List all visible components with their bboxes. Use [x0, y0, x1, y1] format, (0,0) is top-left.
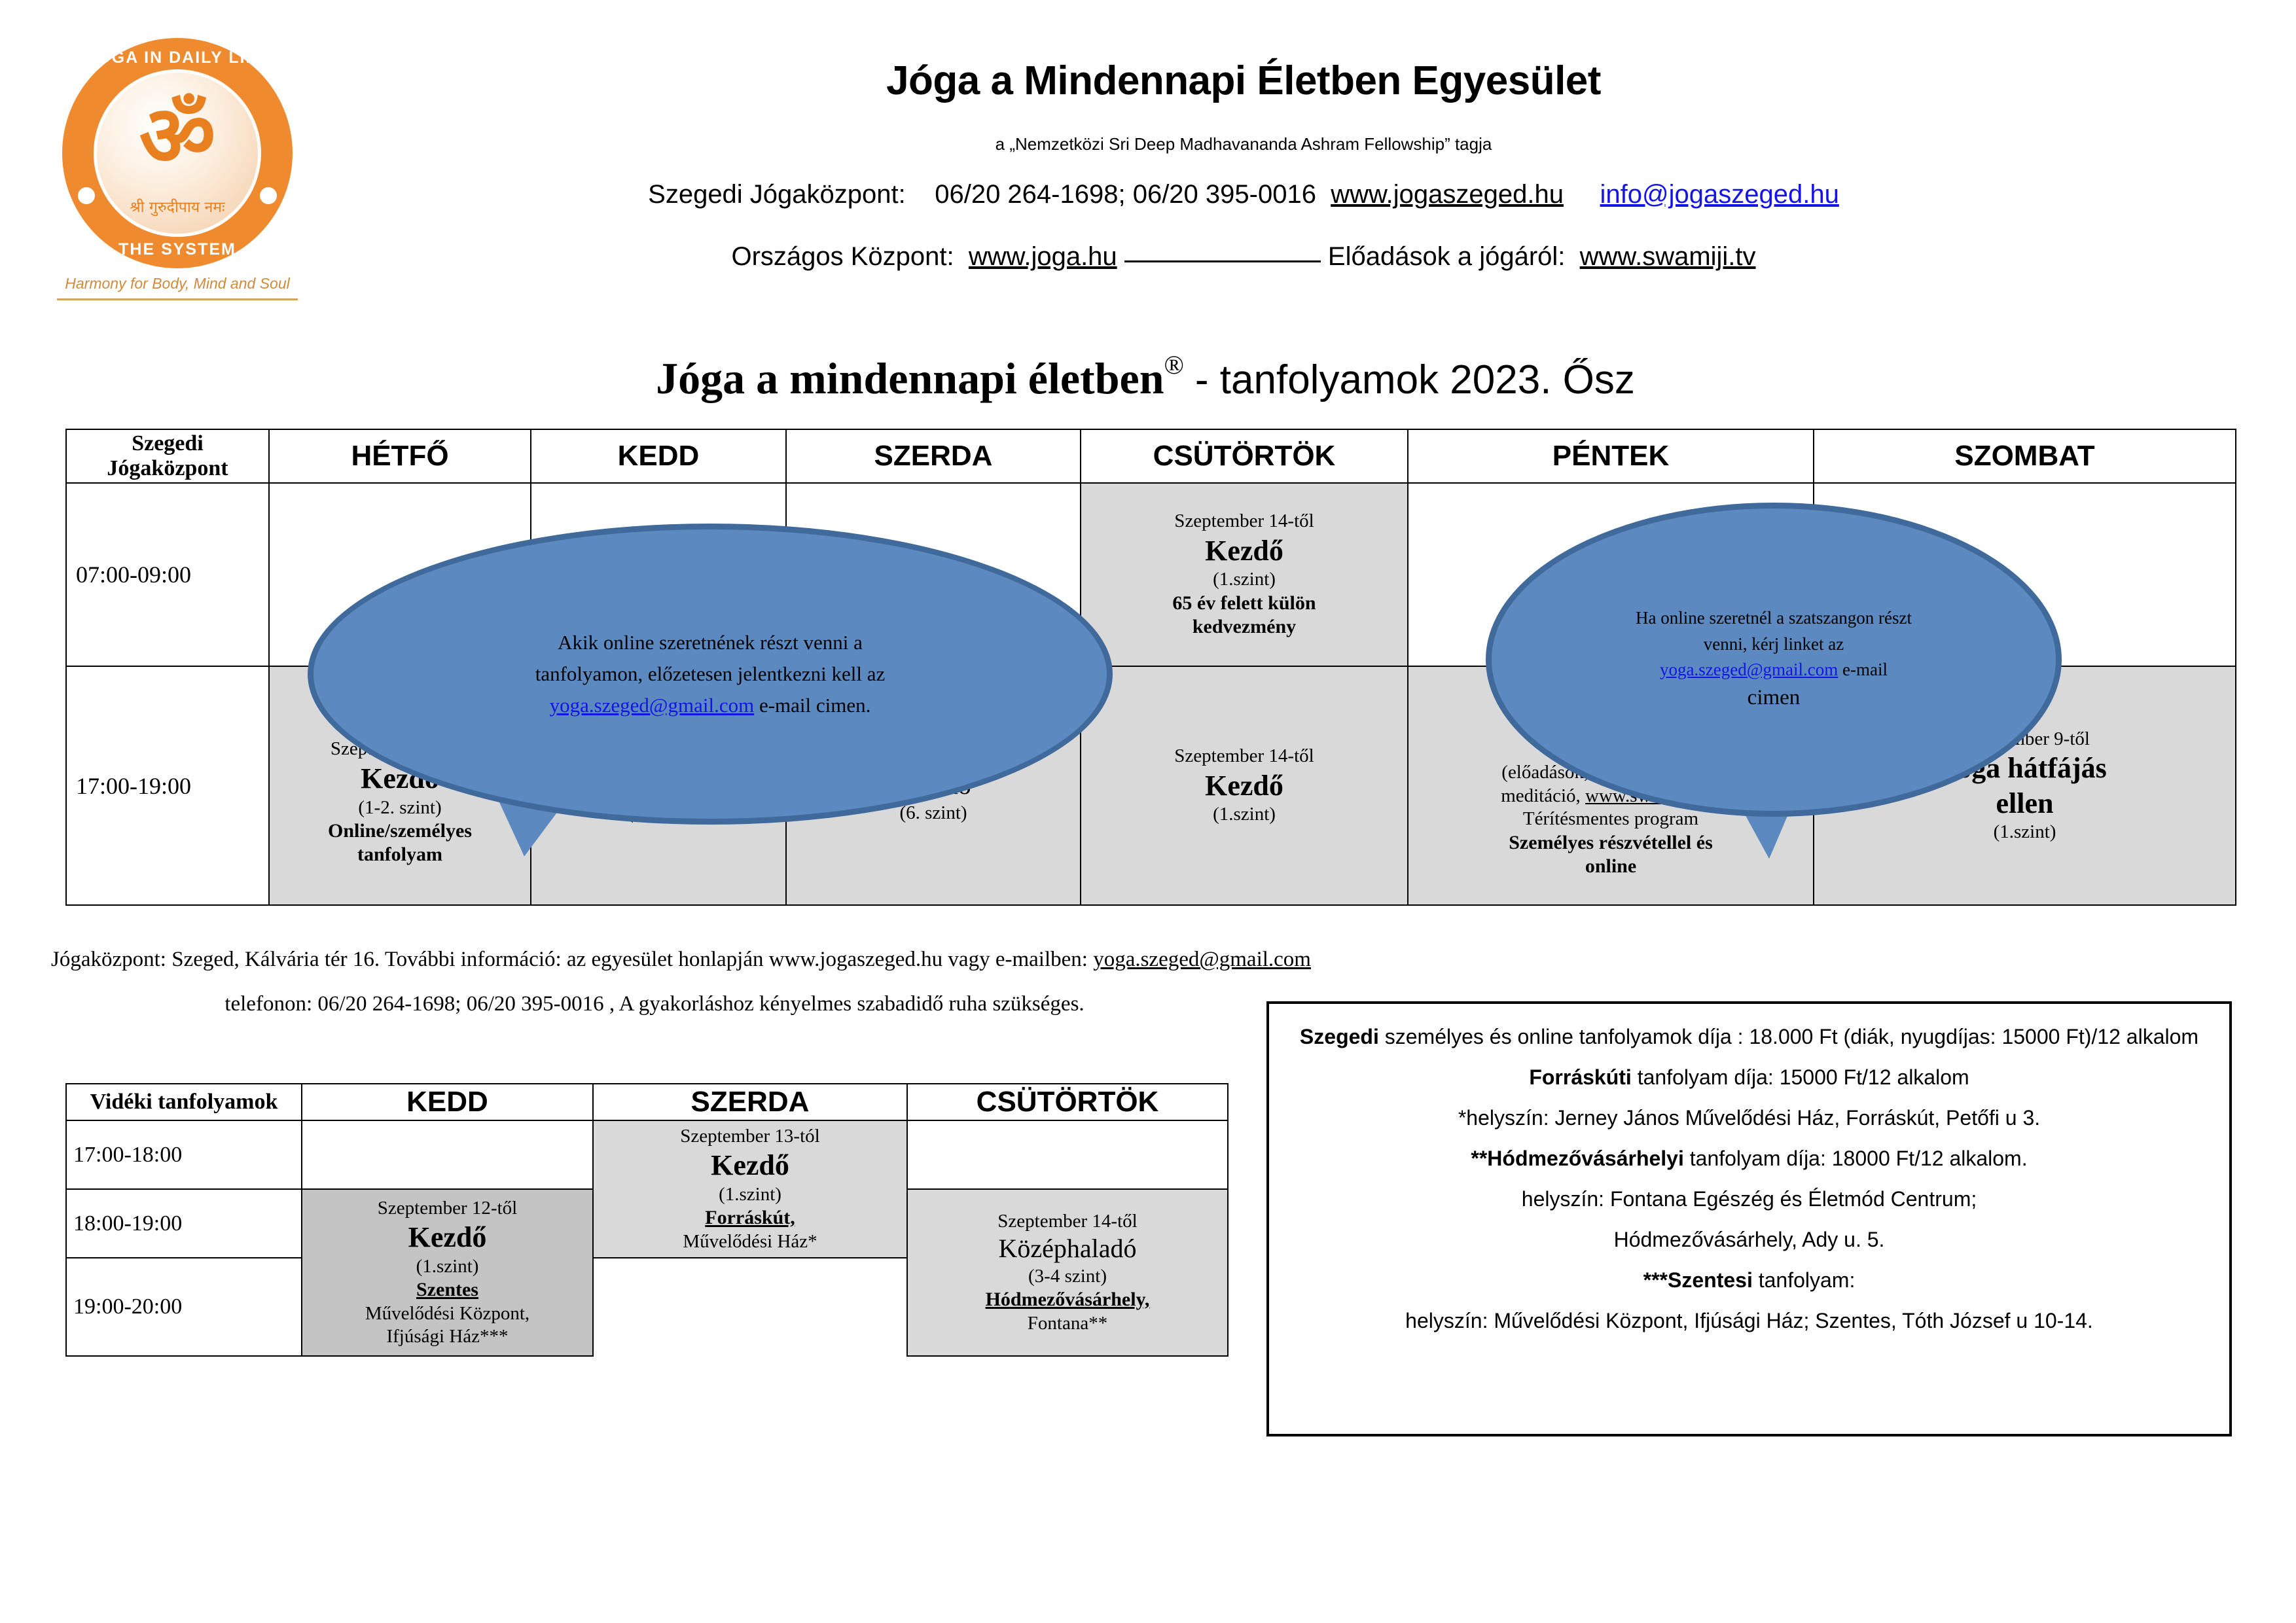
logo-dot-right [260, 187, 277, 204]
cell-line: online [1412, 855, 1809, 879]
schedule-title: Jóga a mindennapi életben® - tanfolyamok… [262, 352, 2029, 401]
cell-line: Szeptember 14-től [912, 1210, 1223, 1233]
rural-time-1800: 18:00-19:00 [66, 1189, 302, 1258]
organization-logo: YOGA IN DAILY LIFE THE SYSTEM ॐ श्री गुर… [49, 38, 304, 300]
szeged-website-link[interactable]: www.jogaszeged.hu [1331, 180, 1564, 209]
cell-line: Szeptember 13-tól [598, 1125, 903, 1148]
logo-underline-rule [57, 298, 298, 300]
pricing-info-box: Szegedi személyes és online tanfolyamok … [1266, 1001, 2232, 1436]
cell-content: Szeptember 13-tólKezdő(1.szint)Forráskút… [598, 1125, 903, 1253]
phone-clothing-note: telefonon: 06/20 264-1698; 06/20 395-001… [98, 990, 1211, 1019]
row-time-morning: 07:00-09:00 [66, 483, 269, 666]
column-header-friday: PÉNTEK [1408, 429, 1814, 483]
cell-line: Fontana** [912, 1312, 1223, 1335]
cell-content: Szeptember 14-tőlKezdő(1.szint) [1085, 745, 1403, 826]
logo-arc-bottom-text: THE SYSTEM [62, 240, 293, 259]
cell-line: (1.szint) [1085, 803, 1403, 826]
cell-line: Hódmezővásárhely, [912, 1288, 1223, 1312]
cell-line: Forráskút, [598, 1206, 903, 1230]
schedule-title-rest: - tanfolyamok 2023. Ősz [1195, 357, 1635, 402]
column-header-wednesday: SZERDA [786, 429, 1081, 483]
price-forraskut-bold: Forráskúti [1529, 1065, 1631, 1089]
online-registration-callout: Akik online szeretnének részt venni a ta… [308, 524, 1113, 825]
logo-tagline: Harmony for Body, Mind and Soul [49, 275, 306, 293]
address-note: Jógaközpont: Szeged, Kálvária tér 16. To… [51, 948, 1818, 972]
om-symbol-icon: ॐ [97, 95, 258, 179]
cell-line: Kezdő [1085, 533, 1403, 569]
rural-column-header-wednesday: SZERDA [593, 1084, 907, 1120]
callout1-line1: Akik online szeretnének részt venni a [535, 627, 886, 658]
cell-content: Szeptember 14-tőlKezdő(1.szint)65 év fel… [1085, 510, 1403, 639]
main-table-corner-header: Szegedi Jógaközpont [66, 429, 269, 483]
callout2-line2: venni, kérj linket az [1636, 632, 1912, 657]
cell-line: Művelődési Ház* [598, 1230, 903, 1253]
cell-line: Kezdő [306, 1220, 588, 1255]
cell-content: Szeptember 14-tőlKözéphaladó(3-4 szint)H… [912, 1210, 1223, 1336]
szeged-phones: 06/20 264-1698; 06/20 395-0016 [935, 180, 1316, 209]
contact-line-szeged: Szegedi Jógaközpont: 06/20 264-1698; 06/… [458, 180, 2029, 209]
rural-cell-wed: Szeptember 13-tólKezdő(1.szint)Forráskút… [593, 1120, 907, 1258]
rural-table-corner-header: Vidéki tanfolyamok [66, 1084, 302, 1120]
cell-line: Kezdő [598, 1148, 903, 1183]
price-szentes-bold: ***Szentesi [1643, 1268, 1753, 1292]
logo-globe: ॐ श्री गुरुदीपाय नमः [94, 69, 261, 237]
cell-line: kedvezmény [1085, 615, 1403, 639]
cell-thu-evening: Szeptember 14-tőlKezdő(1.szint) [1081, 666, 1408, 905]
rural-schedule-table: Vidéki tanfolyamok KEDD SZERDA CSÜTÖRTÖK… [65, 1083, 1229, 1357]
price-szeged-bold: Szegedi [1300, 1025, 1379, 1048]
price-line-szeged: Szegedi személyes és online tanfolyamok … [1289, 1026, 2210, 1047]
callout1-line3: yoga.szeged@gmail.com e-mail cimen. [535, 690, 886, 721]
price-hmv-rest: tanfolyam díja: 18000 Ft/12 alkalom. [1684, 1147, 2028, 1170]
callout2-email-link[interactable]: yoga.szeged@gmail.com [1660, 660, 1838, 679]
address-note-email-link[interactable]: yoga.szeged@gmail.com [1093, 948, 1311, 971]
registered-trademark-icon: ® [1164, 350, 1184, 380]
rural-cell-tue: Szeptember 12-tőlKezdő(1.szint)SzentesMű… [302, 1189, 593, 1356]
satsang-online-callout: Ha online szeretnél a szatszangon részt … [1486, 503, 2062, 817]
price-line-szentes: ***Szentesi tanfolyam: [1289, 1270, 2210, 1291]
venue-hmv-1: helyszín: Fontana Egészég és Életmód Cen… [1289, 1188, 2210, 1209]
national-website-link[interactable]: www.joga.hu [969, 242, 1117, 271]
flyer-page: YOGA IN DAILY LIFE THE SYSTEM ॐ श्री गुर… [0, 0, 2296, 1623]
rural-cell-tue-1700 [302, 1120, 593, 1189]
page-subtitle: a „Nemzetközi Sri Deep Madhavananda Ashr… [458, 134, 2029, 154]
szeged-center-label: Szegedi Jógaközpont: [648, 180, 906, 209]
cell-line: 65 év felett külön [1085, 592, 1403, 616]
cell-line: tanfolyam [274, 843, 526, 867]
cell-line: Ifjúsági Ház*** [306, 1325, 588, 1348]
logo-arc-top-text: YOGA IN DAILY LIFE [62, 48, 293, 67]
table-header-row: Vidéki tanfolyamok KEDD SZERDA CSÜTÖRTÖK [66, 1084, 1228, 1120]
cell-line: (1.szint) [598, 1183, 903, 1206]
price-hmv-bold: **Hódmezővásárhelyi [1471, 1147, 1683, 1170]
cell-thu-morning: Szeptember 14-tőlKezdő(1.szint)65 év fel… [1081, 483, 1408, 666]
price-line-forraskut: Forráskúti tanfolyam díja: 15000 Ft/12 a… [1289, 1067, 2210, 1088]
address-note-text: Jógaközpont: Szeged, Kálvária tér 16. To… [51, 948, 1093, 971]
callout2-line1: Ha online szeretnél a szatszangon részt [1636, 605, 1912, 631]
price-szentes-rest: tanfolyam: [1753, 1268, 1856, 1292]
rural-time-1900: 19:00-20:00 [66, 1258, 302, 1356]
venue-szentes: helyszín: Művelődési Központ, Ifjúsági H… [1289, 1310, 2210, 1331]
rural-column-header-tuesday: KEDD [302, 1084, 593, 1120]
rural-cell-thu-1700 [907, 1120, 1228, 1189]
callout1-line3-tail: e-mail cimen. [754, 694, 870, 717]
cell-line: Kezdő [1085, 768, 1403, 804]
lectures-label: Előadások a jógáról: [1328, 242, 1565, 271]
cell-line: Középhaladó [912, 1233, 1223, 1265]
szeged-email-link[interactable]: info@jogaszeged.hu [1600, 180, 1839, 209]
cell-line: Művelődési Központ, [306, 1302, 588, 1325]
contact-line-national: Országos Központ: www.joga.hu Előadások … [458, 242, 2029, 272]
row-time-evening: 17:00-19:00 [66, 666, 269, 905]
rural-cell-thu: Szeptember 14-tőlKözéphaladó(3-4 szint)H… [907, 1189, 1228, 1356]
schedule-title-brand: Jóga a mindennapi életben [656, 353, 1164, 403]
cell-line: Szeptember 14-től [1085, 510, 1403, 533]
venue-hmv-2: Hódmezővásárhely, Ady u. 5. [1289, 1229, 2210, 1250]
cell-line: Szentes [306, 1278, 588, 1302]
cell-line: (1.szint) [1085, 568, 1403, 591]
cell-content: Szeptember 12-tőlKezdő(1.szint)SzentesMű… [306, 1197, 588, 1349]
callout1-email-link[interactable]: yoga.szeged@gmail.com [550, 694, 755, 717]
logo-sanskrit-text: श्री गुरुदीपाय नमः [97, 196, 258, 217]
venue-forraskut: *helyszín: Jerney János Művelődési Ház, … [1289, 1107, 2210, 1128]
cell-line: Szeptember 14-től [1085, 745, 1403, 768]
price-szeged-rest: személyes és online tanfolyamok díja : 1… [1379, 1025, 2198, 1048]
rural-time-1700: 17:00-18:00 [66, 1120, 302, 1189]
table-row: 17:00-18:00 Szeptember 13-tólKezdő(1.szi… [66, 1120, 1228, 1189]
national-center-label: Országos Központ: [731, 242, 954, 271]
callout2-line3: yoga.szeged@gmail.com e-mail [1636, 657, 1912, 683]
logo-dot-left [78, 187, 95, 204]
column-header-tuesday: KEDD [531, 429, 786, 483]
logo-disc: YOGA IN DAILY LIFE THE SYSTEM ॐ श्री गुर… [62, 38, 293, 268]
column-header-thursday: CSÜTÖRTÖK [1081, 429, 1408, 483]
callout2-line3-tail: e-mail [1838, 660, 1888, 679]
rural-column-header-thursday: CSÜTÖRTÖK [907, 1084, 1228, 1120]
cell-line: (1.szint) [1818, 821, 2231, 844]
table-header-row: Szegedi Jógaközpont HÉTFŐ KEDD SZERDA CS… [66, 429, 2236, 483]
cell-line: (3-4 szint) [912, 1265, 1223, 1288]
price-line-hodmezovasarhely: **Hódmezővásárhelyi tanfolyam díja: 1800… [1289, 1148, 2210, 1169]
cell-line: (1.szint) [306, 1255, 588, 1278]
column-header-saturday: SZOMBAT [1814, 429, 2236, 483]
callout2-line4: cimen [1636, 683, 1912, 714]
column-header-monday: HÉTFŐ [269, 429, 531, 483]
page-title: Jóga a Mindennapi Életben Egyesület [458, 58, 2029, 104]
blank-rule [1124, 260, 1321, 262]
swamiji-website-link[interactable]: www.swamiji.tv [1580, 242, 1756, 271]
price-forraskut-rest: tanfolyam díja: 15000 Ft/12 alkalom [1632, 1065, 1969, 1089]
cell-line: Online/személyes [274, 819, 526, 844]
callout1-line2: tanfolyamon, előzetesen jelentkezni kell… [535, 658, 886, 690]
cell-line: Szeptember 12-től [306, 1197, 588, 1220]
